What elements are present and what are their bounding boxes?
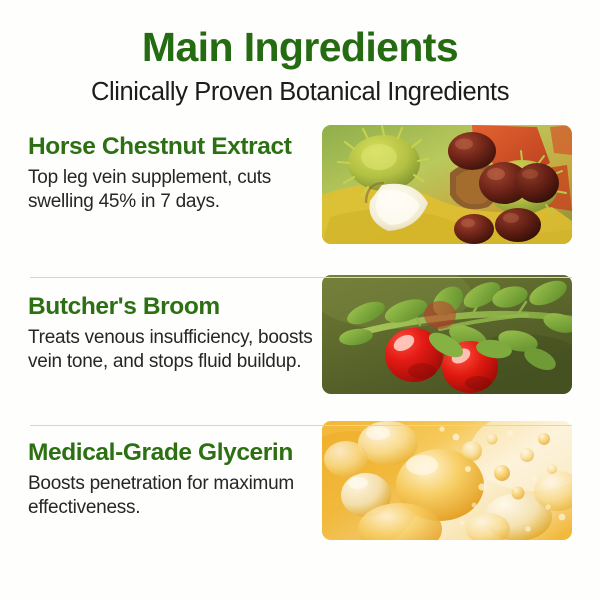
ingredient-image-wrap bbox=[318, 419, 572, 540]
ingredient-name: Butcher's Broom bbox=[28, 293, 318, 321]
ingredient-text: Butcher's Broom Treats venous insufficie… bbox=[28, 271, 318, 374]
page-title: Main Ingredients bbox=[0, 26, 600, 69]
butchers-broom-photo bbox=[322, 275, 572, 394]
glycerin-oil-photo bbox=[322, 421, 572, 540]
list-item: Butcher's Broom Treats venous insufficie… bbox=[0, 271, 600, 419]
list-item: Medical-Grade Glycerin Boosts penetratio… bbox=[0, 419, 600, 569]
ingredient-image-wrap bbox=[318, 271, 572, 394]
section-divider bbox=[30, 277, 572, 278]
page-subtitle: Clinically Proven Botanical Ingredients bbox=[0, 78, 600, 107]
list-item: Horse Chestnut Extract Top leg vein supp… bbox=[0, 125, 600, 271]
ingredient-name: Horse Chestnut Extract bbox=[28, 133, 318, 161]
header: Main Ingredients Clinically Proven Botan… bbox=[0, 0, 600, 107]
ingredient-name: Medical-Grade Glycerin bbox=[28, 439, 318, 467]
ingredient-image-wrap bbox=[318, 125, 572, 244]
ingredient-description: Top leg vein supplement, cuts swelling 4… bbox=[28, 166, 318, 214]
ingredient-description: Treats venous insufficiency, boosts vein… bbox=[28, 326, 318, 374]
section-divider bbox=[30, 425, 572, 426]
horse-chestnut-photo bbox=[322, 125, 572, 244]
ingredients-infographic: Main Ingredients Clinically Proven Botan… bbox=[0, 0, 600, 600]
ingredient-description: Boosts penetration for maximum effective… bbox=[28, 472, 318, 520]
ingredient-text: Medical-Grade Glycerin Boosts penetratio… bbox=[28, 419, 318, 520]
ingredient-list: Horse Chestnut Extract Top leg vein supp… bbox=[0, 125, 600, 569]
ingredient-text: Horse Chestnut Extract Top leg vein supp… bbox=[28, 125, 318, 214]
